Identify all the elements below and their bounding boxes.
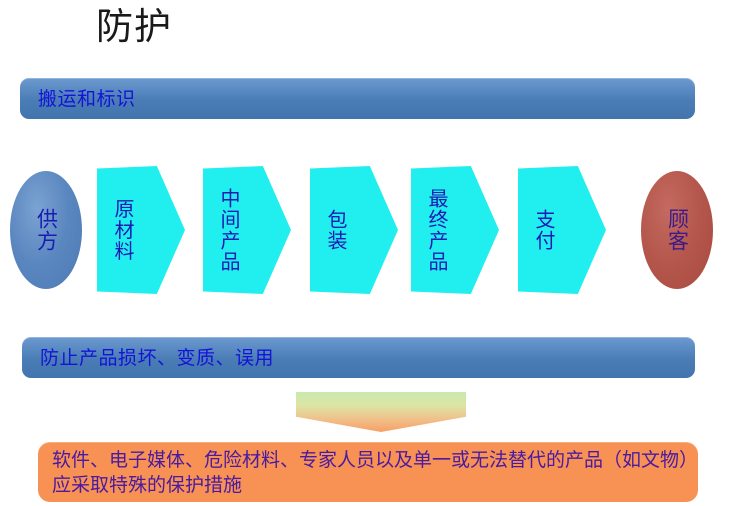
banner-handling-and-identification: 搬运和标识 bbox=[20, 78, 695, 119]
flow-node-customer-label: 顾客 bbox=[665, 208, 690, 252]
page-title: 防护 bbox=[96, 4, 172, 50]
flow-node-payment: 支付 bbox=[518, 166, 606, 294]
banner-handling-label: 搬运和标识 bbox=[38, 87, 136, 111]
note-special-protection-text: 软件、电子媒体、危险材料、专家人员以及单一或无法替代的产品（如文物）应采取特殊的… bbox=[52, 448, 690, 498]
flow-node-raw-material-label: 原材料 bbox=[110, 199, 135, 262]
flow-node-packaging-label: 包装 bbox=[323, 209, 348, 251]
flow-node-supplier-label: 供方 bbox=[34, 208, 59, 252]
flow-node-payment-label: 支付 bbox=[531, 209, 556, 251]
flow-node-intermediate-product: 中间产品 bbox=[203, 166, 291, 294]
flow-node-packaging: 包装 bbox=[310, 166, 398, 294]
banner-prevent-damage-label: 防止产品损坏、变质、误用 bbox=[40, 346, 274, 370]
flow-node-customer: 顾客 bbox=[641, 171, 713, 289]
slide-canvas: 防护 搬运和标识 供方 原材料 中间产品 包装 最终产品 支付 顾客 防止产品损… bbox=[0, 0, 735, 506]
flow-node-intermediate-product-label: 中间产品 bbox=[216, 188, 241, 272]
flow-node-final-product-label: 最终产品 bbox=[424, 188, 449, 272]
arrow-down-icon bbox=[296, 392, 466, 432]
banner-prevent-damage: 防止产品损坏、变质、误用 bbox=[22, 337, 695, 378]
note-special-protection: 软件、电子媒体、危险材料、专家人员以及单一或无法替代的产品（如文物）应采取特殊的… bbox=[38, 442, 698, 502]
flow-node-final-product: 最终产品 bbox=[411, 166, 499, 294]
flow-node-raw-material: 原材料 bbox=[97, 166, 185, 294]
flow-node-supplier: 供方 bbox=[10, 171, 82, 289]
process-flow: 供方 原材料 中间产品 包装 最终产品 支付 顾客 bbox=[0, 160, 735, 300]
